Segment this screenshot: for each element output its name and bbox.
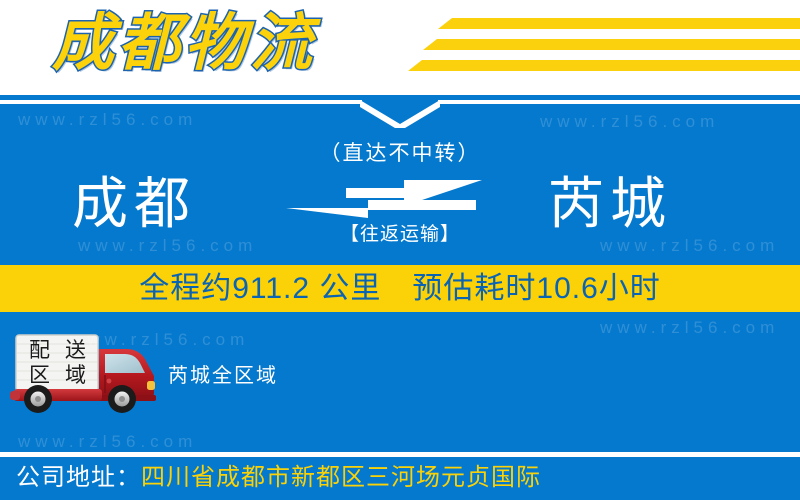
stripe-3 <box>408 60 800 71</box>
logistics-poster: 成都物流 （直达不中转） 成都 芮城 【往返运输】 <box>0 0 800 500</box>
truck-box-char-4: 域 <box>58 363 94 388</box>
stats-bar: 全程约911.2 公里 预估耗时10.6小时 <box>0 265 800 312</box>
truck-box-char-3: 区 <box>22 363 58 388</box>
company-address-value: 四川省成都市新都区三河场元贞国际 <box>141 464 541 491</box>
stripe-1 <box>438 18 800 29</box>
bidirectional-arrow-icon <box>286 178 482 222</box>
decorative-stripes <box>408 16 800 78</box>
chevron-down-icon <box>360 98 440 128</box>
truck-box-char-2: 送 <box>58 338 94 363</box>
footer-divider <box>0 452 800 457</box>
divider-rule-right <box>438 100 800 104</box>
header-band: 成都物流 <box>0 0 800 95</box>
company-address-label: 公司地址： <box>16 464 141 491</box>
watermark-7: www.rzl56.com <box>18 432 197 452</box>
distance-duration-text: 全程约911.2 公里 预估耗时10.6小时 <box>139 269 661 309</box>
company-address-row: 公司地址：四川省成都市新都区三河场元贞国际 <box>16 462 541 494</box>
coverage-area-text: 芮城全区域 <box>168 362 278 390</box>
roundtrip-note: 【往返运输】 <box>0 222 800 248</box>
stripe-2 <box>423 39 800 50</box>
direct-shipping-note: （直达不中转） <box>0 140 800 168</box>
divider-rule-with-chevron <box>0 92 800 128</box>
divider-rule-left <box>0 100 362 104</box>
brand-title: 成都物流 <box>52 5 316 83</box>
truck-box-char-1: 配 <box>22 338 58 363</box>
watermark-5: www.rzl56.com <box>600 318 779 338</box>
truck-box-label: 配 送 区 域 <box>22 337 94 389</box>
